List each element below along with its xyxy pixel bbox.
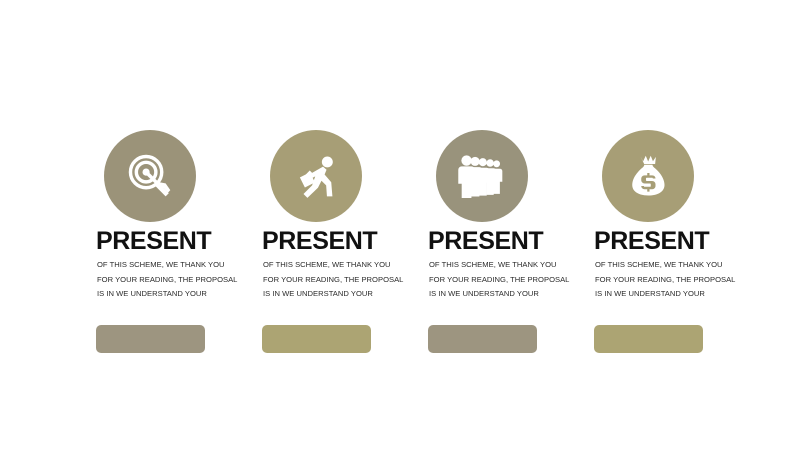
accent-bar-3[interactable] [428,325,537,353]
accent-bar-1[interactable] [96,325,205,353]
running-businessman-briefcase-icon [291,151,341,201]
card-title-1: PRESENT [96,229,211,254]
slide-canvas: PRESENT OF THIS SCHEME, WE THANK YOU FOR… [0,0,800,450]
card-body-line: IS IN WE UNDERSTAND YOUR [595,287,755,302]
money-bag-dollar-icon [624,152,672,200]
card-body-line: OF THIS SCHEME, WE THANK YOU [97,258,257,273]
accent-bar-4[interactable] [594,325,703,353]
feature-column-4[interactable]: PRESENT OF THIS SCHEME, WE THANK YOU FOR… [594,0,760,450]
feature-column-3[interactable]: PRESENT OF THIS SCHEME, WE THANK YOU FOR… [428,0,594,450]
card-body-line: OF THIS SCHEME, WE THANK YOU [595,258,755,273]
card-body-4: OF THIS SCHEME, WE THANK YOU FOR YOUR RE… [595,258,755,302]
card-body-2: OF THIS SCHEME, WE THANK YOU FOR YOUR RE… [263,258,423,302]
target-arrow-icon [125,151,175,201]
card-body-3: OF THIS SCHEME, WE THANK YOU FOR YOUR RE… [429,258,589,302]
card-body-line: OF THIS SCHEME, WE THANK YOU [263,258,423,273]
icon-circle-3[interactable] [436,130,528,222]
card-title-4: PRESENT [594,229,709,254]
card-body-line: FOR YOUR READING, THE PROPOSAL [263,273,423,288]
feature-column-1[interactable]: PRESENT OF THIS SCHEME, WE THANK YOU FOR… [96,0,262,450]
card-body-line: OF THIS SCHEME, WE THANK YOU [429,258,589,273]
card-body-1: OF THIS SCHEME, WE THANK YOU FOR YOUR RE… [97,258,257,302]
feature-columns-row: PRESENT OF THIS SCHEME, WE THANK YOU FOR… [0,0,800,450]
card-body-line: FOR YOUR READING, THE PROPOSAL [595,273,755,288]
feature-column-2[interactable]: PRESENT OF THIS SCHEME, WE THANK YOU FOR… [262,0,428,450]
accent-bar-2[interactable] [262,325,371,353]
icon-circle-4[interactable] [602,130,694,222]
group-of-people-icon [456,150,508,202]
icon-circle-1[interactable] [104,130,196,222]
card-body-line: FOR YOUR READING, THE PROPOSAL [97,273,257,288]
card-body-line: FOR YOUR READING, THE PROPOSAL [429,273,589,288]
card-body-line: IS IN WE UNDERSTAND YOUR [263,287,423,302]
icon-circle-2[interactable] [270,130,362,222]
card-title-3: PRESENT [428,229,543,254]
card-body-line: IS IN WE UNDERSTAND YOUR [97,287,257,302]
card-title-2: PRESENT [262,229,377,254]
card-body-line: IS IN WE UNDERSTAND YOUR [429,287,589,302]
